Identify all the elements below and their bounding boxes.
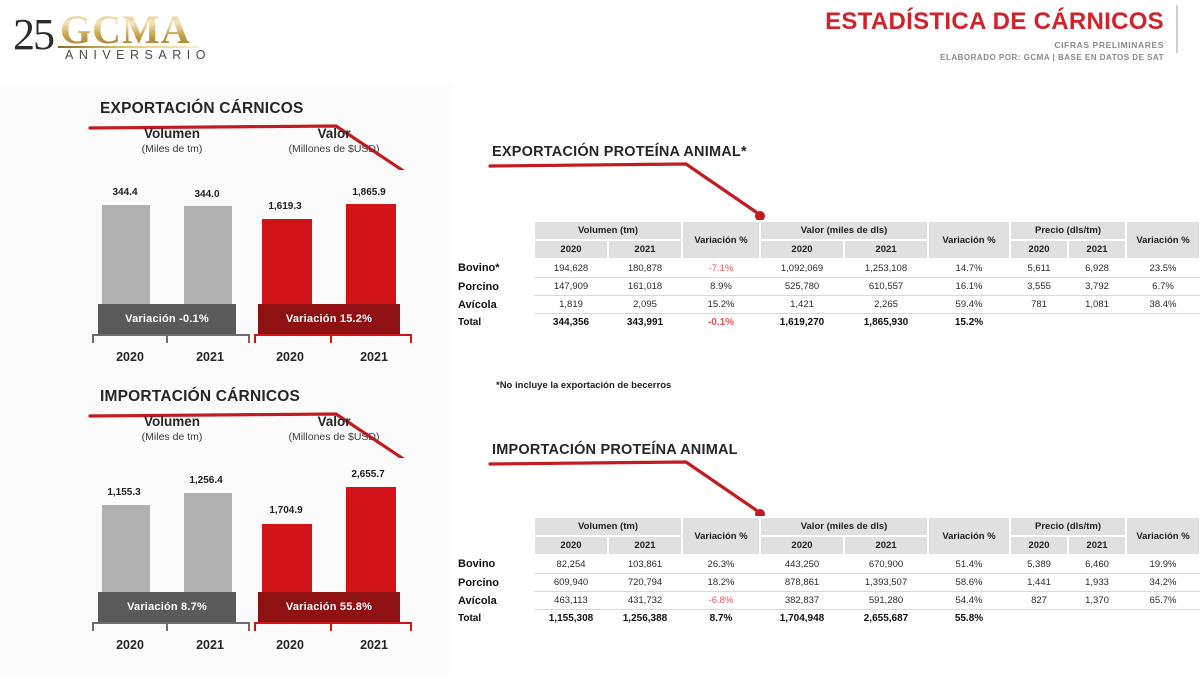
import-volumen-units: (Miles de tm) <box>92 431 252 443</box>
export-volumen-axis-cap-right <box>248 335 250 343</box>
import-porcino-val-2020: 878,861 <box>760 574 844 592</box>
export-table-group-header-row: Volumen (tm) Variación % Valor (miles de… <box>456 221 1200 240</box>
import-avicola-val-var: 54.4% <box>928 592 1010 610</box>
import-valor-chart: Valor (Millones de $USD) 1,704.9 2,655.7… <box>254 414 414 638</box>
import-total-val-2020: 1,704,948 <box>760 610 844 628</box>
export-total-val-var: 15.2% <box>928 314 1010 332</box>
import-valor-axis-cap-left <box>254 623 256 631</box>
export-volumen-xlabel-2021: 2021 <box>176 350 244 364</box>
import-table-group-variacion-precio: Variación % <box>1126 517 1200 555</box>
export-table-year-pre-2021: 2021 <box>1068 240 1126 259</box>
export-porcino-pre-var: 6.7% <box>1126 278 1200 296</box>
import-porcino-val-var: 58.6% <box>928 574 1010 592</box>
export-volumen-title: Volumen <box>92 126 252 141</box>
export-table-title: EXPORTACIÓN PROTEÍNA ANIMAL* <box>492 144 747 160</box>
table-row-total: Total 344,356 343,991 -0.1% 1,619,270 1,… <box>456 314 1200 332</box>
header-subtitle-source: ELABORADO POR: GCMA | BASE EN DATOS DE S… <box>825 53 1164 62</box>
export-valor-axis-cap-left <box>254 335 256 343</box>
table-row: Avícola 1,819 2,095 15.2% 1,421 2,265 59… <box>456 296 1200 314</box>
export-volumen-axis-cap-left <box>92 335 94 343</box>
export-avicola-pre-2020: 781 <box>1010 296 1068 314</box>
export-bovino-pre-var: 23.5% <box>1126 259 1200 278</box>
header-title-block: ESTADÍSTICA DE CÁRNICOS CIFRAS PRELIMINA… <box>825 8 1164 62</box>
import-bovino-vol-var: 26.3% <box>682 555 760 574</box>
export-bovino-val-var: 14.7% <box>928 259 1010 278</box>
export-valor-value-2020: 1,619.3 <box>254 201 316 212</box>
export-table-corner-cell <box>456 221 534 259</box>
import-volumen-xlabel-2021: 2021 <box>176 638 244 652</box>
import-bovino-val-2021: 670,900 <box>844 555 928 574</box>
import-volumen-axis <box>92 622 250 624</box>
export-volumen-variation-band: Variación -0.1% <box>98 304 236 334</box>
export-valor-axis-cap-right <box>410 335 412 343</box>
table-row: Avícola 463,113 431,732 -6.8% 382,837 59… <box>456 592 1200 610</box>
export-valor-variation-band: Variación 15.2% <box>258 304 400 334</box>
export-porcino-vol-2021: 161,018 <box>608 278 682 296</box>
export-volumen-header: Volumen (Miles de tm) <box>92 126 252 155</box>
import-table-group-precio: Precio (dls/tm) <box>1010 517 1126 536</box>
export-table-group-precio: Precio (dls/tm) <box>1010 221 1126 240</box>
export-volumen-axis <box>92 334 250 336</box>
export-table-group-variacion-valor: Variación % <box>928 221 1010 259</box>
export-row-label-avicola: Avícola <box>456 296 534 314</box>
import-valor-xlabel-2020: 2020 <box>256 638 324 652</box>
export-avicola-vol-2020: 1,819 <box>534 296 608 314</box>
export-charts-section: EXPORTACIÓN CÁRNICOS Volumen (Miles de t… <box>0 100 452 118</box>
import-volumen-header: Volumen (Miles de tm) <box>92 414 252 443</box>
table-row-total: Total 1,155,308 1,256,388 8.7% 1,704,948… <box>456 610 1200 628</box>
export-table-group-variacion-precio: Variación % <box>1126 221 1200 259</box>
import-volumen-axis-cap-left <box>92 623 94 631</box>
import-charts-title: IMPORTACIÓN CÁRNICOS <box>100 388 452 406</box>
import-row-label-porcino: Porcino <box>456 574 534 592</box>
import-porcino-pre-var: 34.2% <box>1126 574 1200 592</box>
export-table-year-vol-2020: 2020 <box>534 240 608 259</box>
export-bovino-val-2020: 1,092,069 <box>760 259 844 278</box>
export-total-pre-2020 <box>1010 314 1068 332</box>
import-porcino-pre-2020: 1,441 <box>1010 574 1068 592</box>
logo-aniversario-text: ANIVERSARIO <box>65 48 211 62</box>
import-volumen-variation-band: Variación 8.7% <box>98 592 236 622</box>
import-avicola-pre-2021: 1,370 <box>1068 592 1126 610</box>
import-bovino-pre-2020: 5,389 <box>1010 555 1068 574</box>
import-volumen-axis-cap-right <box>248 623 250 631</box>
export-row-label-porcino: Porcino <box>456 278 534 296</box>
import-bovino-val-2020: 443,250 <box>760 555 844 574</box>
import-valor-axis-tick-mid <box>330 623 332 631</box>
import-row-label-total: Total <box>456 610 534 628</box>
import-volumen-title: Volumen <box>92 414 252 429</box>
import-valor-xlabel-2021: 2021 <box>340 638 408 652</box>
table-row: Bovino* 194,628 180,878 -7.1% 1,092,069 … <box>456 259 1200 278</box>
import-porcino-val-2021: 1,393,507 <box>844 574 928 592</box>
import-table-year-val-2020: 2020 <box>760 536 844 555</box>
export-bovino-vol-2021: 180,878 <box>608 259 682 278</box>
import-total-val-2021: 2,655,687 <box>844 610 928 628</box>
export-valor-units: (Millones de $USD) <box>254 143 414 155</box>
import-valor-value-2021: 2,655.7 <box>334 469 402 480</box>
table-row: Porcino 609,940 720,794 18.2% 878,861 1,… <box>456 574 1200 592</box>
import-total-vol-var: 8.7% <box>682 610 760 628</box>
import-valor-units: (Millones de $USD) <box>254 431 414 443</box>
import-table-group-variacion-volumen: Variación % <box>682 517 760 555</box>
export-total-vol-2020: 344,356 <box>534 314 608 332</box>
export-valor-value-2021: 1,865.9 <box>336 187 402 198</box>
table-row: Bovino 82,254 103,861 26.3% 443,250 670,… <box>456 555 1200 574</box>
gcma-logo: 25 GCMA ANIVERSARIO <box>10 6 200 66</box>
export-protein-table: Volumen (tm) Variación % Valor (miles de… <box>456 220 1200 331</box>
import-avicola-vol-var: -6.8% <box>682 592 760 610</box>
export-avicola-vol-2021: 2,095 <box>608 296 682 314</box>
export-volumen-plot: 344.4 344.0 Variación -0.1% 2020 2021 <box>92 165 252 350</box>
import-table-title: IMPORTACIÓN PROTEÍNA ANIMAL <box>492 442 738 458</box>
export-porcino-pre-2021: 3,792 <box>1068 278 1126 296</box>
import-charts-section: IMPORTACIÓN CÁRNICOS Volumen (Miles de t… <box>0 388 452 406</box>
export-valor-title: Valor <box>254 126 414 141</box>
export-volumen-axis-tick-mid <box>166 335 168 343</box>
export-porcino-vol-2020: 147,909 <box>534 278 608 296</box>
import-protein-table: Volumen (tm) Variación % Valor (miles de… <box>456 516 1200 627</box>
export-row-label-bovino: Bovino* <box>456 259 534 278</box>
export-avicola-val-2021: 2,265 <box>844 296 928 314</box>
export-bovino-val-2021: 1,253,108 <box>844 259 928 278</box>
export-avicola-vol-var: 15.2% <box>682 296 760 314</box>
export-table-group-volumen: Volumen (tm) <box>534 221 682 240</box>
header-subtitle-preliminares: CIFRAS PRELIMINARES <box>825 40 1164 50</box>
export-avicola-pre-var: 38.4% <box>1126 296 1200 314</box>
export-table-year-val-2021: 2021 <box>844 240 928 259</box>
export-avicola-val-var: 59.4% <box>928 296 1010 314</box>
export-valor-header: Valor (Millones de $USD) <box>254 126 414 155</box>
import-table-group-variacion-valor: Variación % <box>928 517 1010 555</box>
import-volumen-chart: Volumen (Miles de tm) 1,155.3 1,256.4 Va… <box>92 414 252 638</box>
export-total-pre-2021 <box>1068 314 1126 332</box>
import-valor-header: Valor (Millones de $USD) <box>254 414 414 443</box>
import-porcino-vol-2020: 609,940 <box>534 574 608 592</box>
import-table-year-pre-2020: 2020 <box>1010 536 1068 555</box>
export-valor-xlabel-2020: 2020 <box>256 350 324 364</box>
import-table-year-pre-2021: 2021 <box>1068 536 1126 555</box>
export-bovino-pre-2021: 6,928 <box>1068 259 1126 278</box>
import-table-year-vol-2020: 2020 <box>534 536 608 555</box>
import-avicola-vol-2020: 463,113 <box>534 592 608 610</box>
import-avicola-pre-2020: 827 <box>1010 592 1068 610</box>
logo-anniversary-number: 25 <box>13 9 53 60</box>
import-avicola-vol-2021: 431,732 <box>608 592 682 610</box>
import-avicola-pre-var: 65.7% <box>1126 592 1200 610</box>
import-volumen-xlabel-2020: 2020 <box>96 638 164 652</box>
import-total-pre-var <box>1126 610 1200 628</box>
export-table-group-valor: Valor (miles de dls) <box>760 221 928 240</box>
import-bovino-val-var: 51.4% <box>928 555 1010 574</box>
import-valor-variation-band: Variación 55.8% <box>258 592 400 622</box>
import-bovino-pre-2021: 6,460 <box>1068 555 1126 574</box>
export-valor-chart: Valor (Millones de $USD) 1,619.3 1,865.9… <box>254 126 414 350</box>
export-total-val-2020: 1,619,270 <box>760 314 844 332</box>
export-volumen-xlabel-2020: 2020 <box>96 350 164 364</box>
import-table-group-valor: Valor (miles de dls) <box>760 517 928 536</box>
export-valor-xlabel-2021: 2021 <box>340 350 408 364</box>
export-table-year-header-row: 2020 2021 2020 2021 2020 2021 <box>456 240 1200 259</box>
export-valor-plot: 1,619.3 1,865.9 Variación 15.2% 2020 202… <box>254 165 414 350</box>
export-table-footnote: *No incluye la exportación de becerros <box>496 380 671 391</box>
export-total-vol-var: -0.1% <box>682 314 760 332</box>
export-porcino-val-2020: 525,780 <box>760 278 844 296</box>
export-total-pre-var <box>1126 314 1200 332</box>
import-volumen-value-2021: 1,256.4 <box>172 475 240 486</box>
export-row-label-total: Total <box>456 314 534 332</box>
page-title: ESTADÍSTICA DE CÁRNICOS <box>825 8 1164 36</box>
import-row-label-avicola: Avícola <box>456 592 534 610</box>
import-total-pre-2020 <box>1010 610 1068 628</box>
export-table-year-val-2020: 2020 <box>760 240 844 259</box>
export-avicola-val-2020: 1,421 <box>760 296 844 314</box>
import-total-val-var: 55.8% <box>928 610 1010 628</box>
import-volumen-plot: 1,155.3 1,256.4 Variación 8.7% 2020 2021 <box>92 453 252 638</box>
import-porcino-pre-2021: 1,933 <box>1068 574 1126 592</box>
import-row-label-bovino: Bovino <box>456 555 534 574</box>
import-valor-title: Valor <box>254 414 414 429</box>
import-volumen-value-2020: 1,155.3 <box>90 487 158 498</box>
export-valor-axis <box>254 334 412 336</box>
export-total-vol-2021: 343,991 <box>608 314 682 332</box>
import-total-pre-2021 <box>1068 610 1126 628</box>
import-total-vol-2021: 1,256,388 <box>608 610 682 628</box>
import-table-year-vol-2021: 2021 <box>608 536 682 555</box>
import-table-corner-cell <box>456 517 534 555</box>
export-bovino-vol-var: -7.1% <box>682 259 760 278</box>
import-valor-plot: 1,704.9 2,655.7 Variación 55.8% 2020 202… <box>254 453 414 638</box>
export-bovino-pre-2020: 5,611 <box>1010 259 1068 278</box>
import-table-year-header-row: 2020 2021 2020 2021 2020 2021 <box>456 536 1200 555</box>
export-charts-title: EXPORTACIÓN CÁRNICOS <box>100 100 452 118</box>
export-porcino-val-2021: 610,557 <box>844 278 928 296</box>
import-porcino-vol-2021: 720,794 <box>608 574 682 592</box>
left-charts-panel: EXPORTACIÓN CÁRNICOS Volumen (Miles de t… <box>0 84 452 675</box>
slide-root: 25 GCMA ANIVERSARIO ESTADÍSTICA DE CÁRNI… <box>0 0 1200 675</box>
export-table-year-pre-2020: 2020 <box>1010 240 1068 259</box>
export-volumen-units: (Miles de tm) <box>92 143 252 155</box>
import-total-vol-2020: 1,155,308 <box>534 610 608 628</box>
right-tables-panel: EXPORTACIÓN PROTEÍNA ANIMAL* Volumen (tm… <box>452 84 1200 675</box>
export-porcino-pre-2020: 3,555 <box>1010 278 1068 296</box>
header-divider <box>1176 5 1178 53</box>
export-valor-axis-tick-mid <box>330 335 332 343</box>
import-volumen-axis-tick-mid <box>166 623 168 631</box>
export-total-val-2021: 1,865,930 <box>844 314 928 332</box>
export-table-title-arrow <box>488 160 888 220</box>
page-header: 25 GCMA ANIVERSARIO ESTADÍSTICA DE CÁRNI… <box>0 0 1200 84</box>
import-valor-axis <box>254 622 412 624</box>
export-avicola-pre-2021: 1,081 <box>1068 296 1126 314</box>
import-bovino-pre-var: 19.9% <box>1126 555 1200 574</box>
import-bovino-vol-2020: 82,254 <box>534 555 608 574</box>
export-porcino-vol-var: 8.9% <box>682 278 760 296</box>
import-valor-value-2020: 1,704.9 <box>252 505 320 516</box>
table-row: Porcino 147,909 161,018 8.9% 525,780 610… <box>456 278 1200 296</box>
import-bovino-vol-2021: 103,861 <box>608 555 682 574</box>
export-volumen-value-2020: 344.4 <box>94 187 156 198</box>
import-table-group-volumen: Volumen (tm) <box>534 517 682 536</box>
import-table-group-header-row: Volumen (tm) Variación % Valor (miles de… <box>456 517 1200 536</box>
export-volumen-chart: Volumen (Miles de tm) 344.4 344.0 Variac… <box>92 126 252 350</box>
export-porcino-val-var: 16.1% <box>928 278 1010 296</box>
import-table-title-arrow <box>488 458 888 518</box>
export-volumen-value-2021: 344.0 <box>176 189 238 200</box>
import-valor-axis-cap-right <box>410 623 412 631</box>
export-table-year-vol-2021: 2021 <box>608 240 682 259</box>
import-avicola-val-2020: 382,837 <box>760 592 844 610</box>
export-table-group-variacion-volumen: Variación % <box>682 221 760 259</box>
import-porcino-vol-var: 18.2% <box>682 574 760 592</box>
logo-brand-text: GCMA <box>60 6 191 53</box>
export-bovino-vol-2020: 194,628 <box>534 259 608 278</box>
import-table-year-val-2021: 2021 <box>844 536 928 555</box>
import-avicola-val-2021: 591,280 <box>844 592 928 610</box>
